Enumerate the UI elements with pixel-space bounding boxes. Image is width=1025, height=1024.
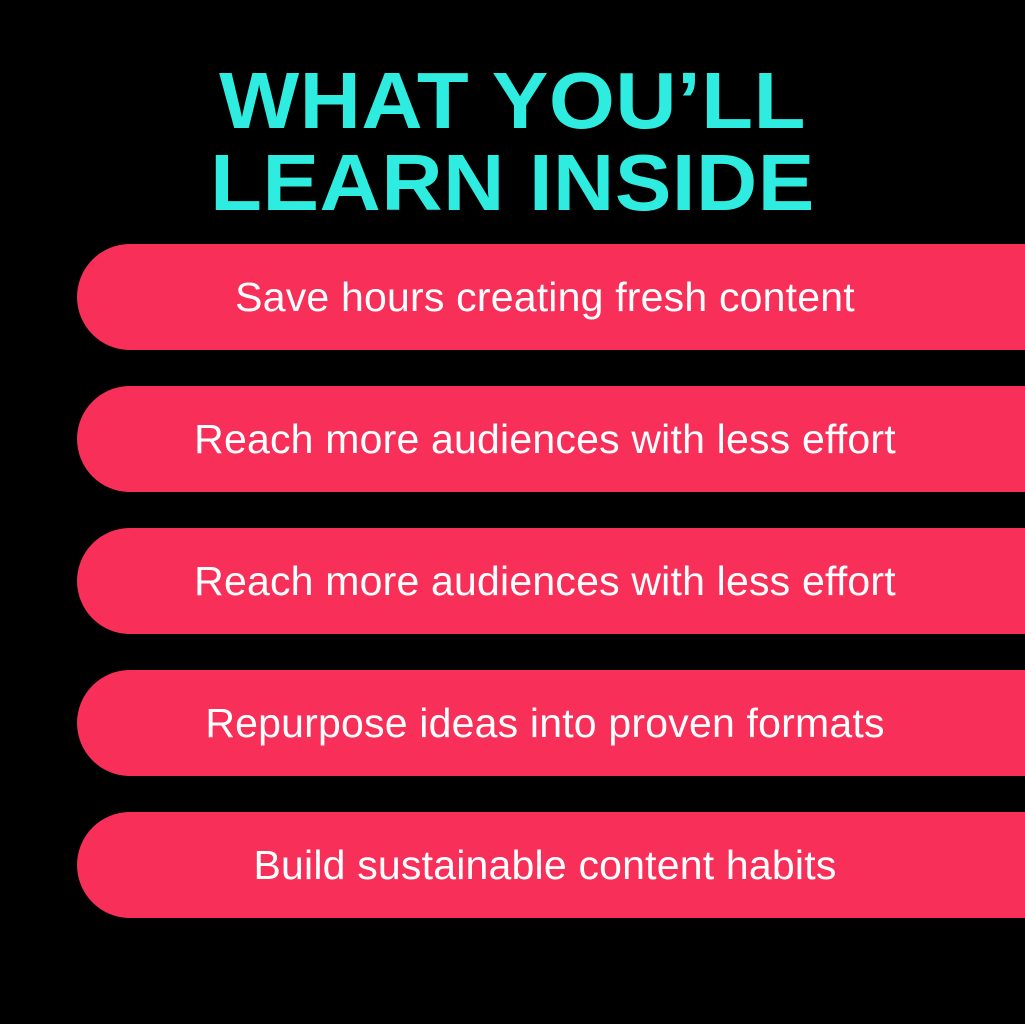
list-item[interactable]: Repurpose ideas into proven formats [77, 670, 1025, 776]
list-item[interactable]: Reach more audiences with less effort [77, 386, 1025, 492]
slide-canvas: WHAT YOU’LL LEARN INSIDE Save hours crea… [0, 0, 1025, 1024]
page-title: WHAT YOU’LL LEARN INSIDE [0, 62, 1025, 223]
list-item-label: Reach more audiences with less effort [194, 561, 896, 602]
list-item-label: Reach more audiences with less effort [194, 419, 896, 460]
benefit-list: Save hours creating fresh content Reach … [77, 244, 1025, 918]
list-item-label: Save hours creating fresh content [235, 277, 855, 318]
list-item[interactable]: Save hours creating fresh content [77, 244, 1025, 350]
list-item[interactable]: Build sustainable content habits [77, 812, 1025, 918]
list-item-label: Build sustainable content habits [253, 845, 836, 886]
list-item-label: Repurpose ideas into proven formats [205, 703, 884, 744]
page-title-line-2: LEARN INSIDE [0, 144, 1025, 222]
page-title-line-1: WHAT YOU’LL [0, 62, 1025, 140]
list-item[interactable]: Reach more audiences with less effort [77, 528, 1025, 634]
